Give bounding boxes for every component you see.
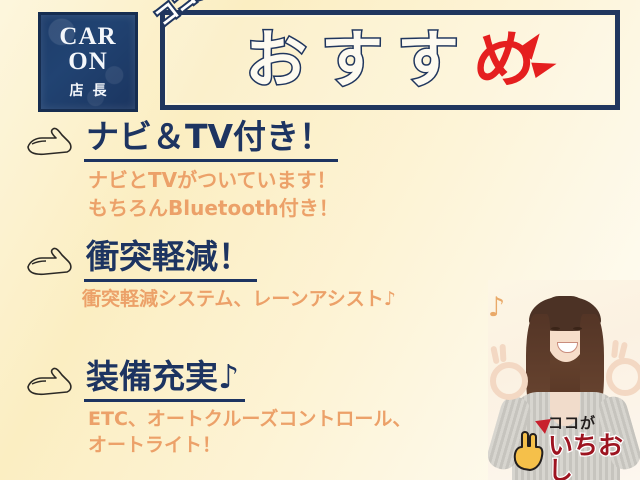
badge-text-group: ココが いちおし (548, 416, 638, 480)
pointing-hand-icon (22, 361, 76, 399)
pointing-hand-icon (22, 121, 76, 159)
headline-char-2: す (321, 29, 383, 91)
car-on-logo-stamp: CAR ON 店長 (38, 12, 138, 112)
feature-2-title: 衝突軽減！ (84, 238, 257, 282)
headline-box: お す す め (160, 10, 620, 110)
feature-1-header-row: ナビ＆TV付き！ (0, 118, 640, 162)
pointing-hand-icon (22, 241, 76, 279)
model-finger-left-2 (500, 344, 507, 362)
feature-1-desc-line1: ナビとTVがついています！ (0, 167, 640, 194)
ichioshi-badge: ココが いちおし (510, 422, 638, 476)
heart-icon (535, 419, 553, 435)
logo-text-tencho: 店長 (61, 80, 116, 100)
model-ok-gesture-left (490, 362, 528, 400)
model-eye-left (551, 327, 560, 330)
logo-text-on: ON (68, 49, 108, 75)
advertisement-banner: CAR ON 店長 お す す め ココが ナビ＆TV付き！ ナビとTVがついて… (0, 0, 640, 480)
model-eye-right (573, 327, 582, 330)
feature-1-desc-line2: もちろんBluetooth付き！ (0, 195, 640, 222)
feature-block-1: ナビ＆TV付き！ ナビとTVがついています！ もちろんBluetooth付き！ (0, 118, 640, 221)
logo-text-car: CAR (59, 24, 116, 50)
feature-3-title: 装備充実♪ (84, 358, 245, 402)
feature-1-title: ナビ＆TV付き！ (84, 118, 338, 162)
burst-mark-1 (517, 28, 547, 60)
headline-char-1: お (245, 29, 307, 91)
music-note-decor-icon: ♪ (488, 292, 505, 323)
badge-ichioshi: いちおし (548, 433, 638, 480)
model-ok-gesture-right (606, 358, 640, 396)
badge-koko-ga: ココが (548, 416, 638, 431)
headline-char-4-accent: め (473, 29, 535, 91)
feature-2-header-row: 衝突軽減！ (0, 238, 640, 282)
headline-char-3: す (397, 29, 459, 91)
burst-mark-2 (531, 56, 558, 78)
headline-inner: お す す め (165, 15, 615, 105)
